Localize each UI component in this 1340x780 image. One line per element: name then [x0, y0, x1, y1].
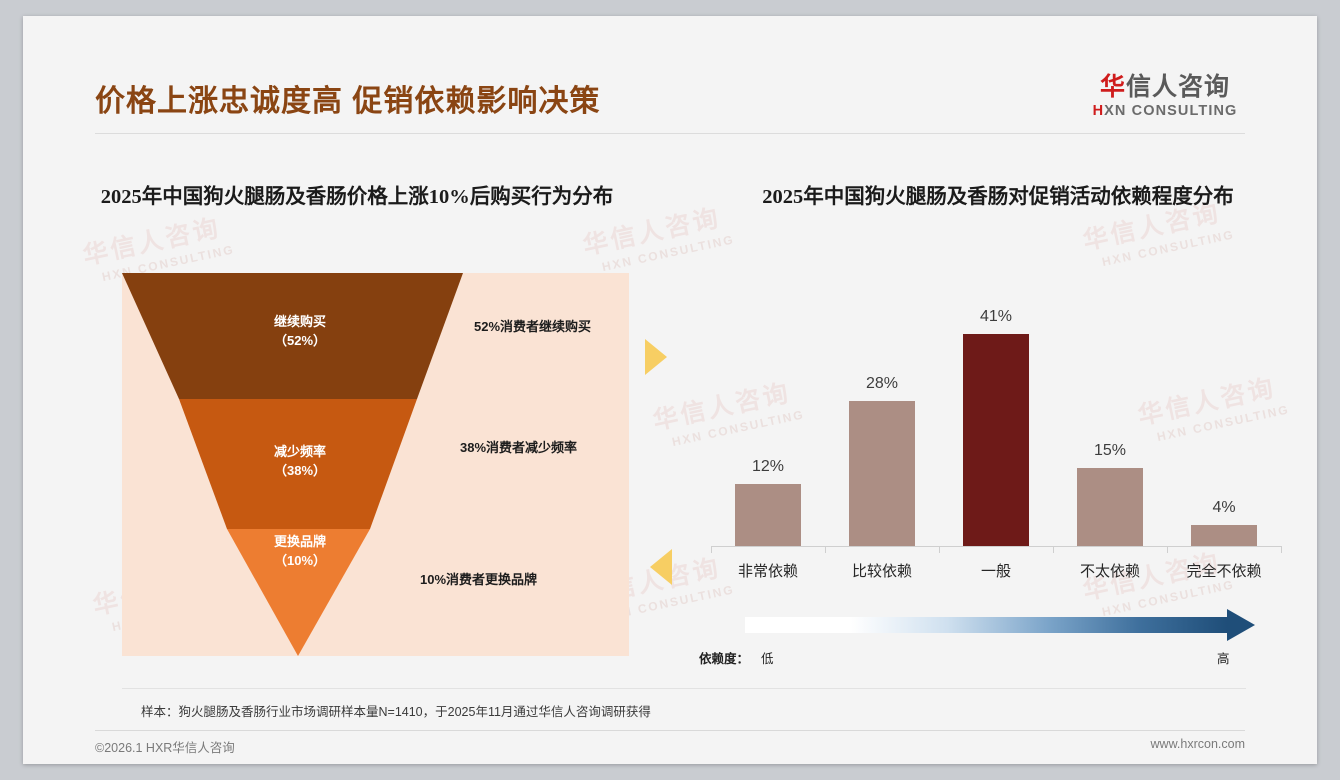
slide-page: 华信人咨询 HXN CONSULTING 华信人咨询 HXN CONSULTIN… — [23, 16, 1317, 764]
logo-english: HXN CONSULTING — [1085, 103, 1245, 119]
bar-column: 28% — [825, 296, 939, 546]
axis-category-label: 非常依赖 — [711, 560, 825, 581]
bar-value-label: 12% — [752, 458, 784, 476]
slide-canvas: 华信人咨询 HXN CONSULTING 华信人咨询 HXN CONSULTIN… — [0, 0, 1340, 780]
company-logo: 华信人咨询 HXN CONSULTING — [1085, 74, 1245, 119]
axis-tick — [1167, 546, 1168, 553]
gradient-arrow-head-icon — [1227, 609, 1255, 641]
logo-en-rest: XN CONSULTING — [1104, 103, 1237, 119]
axis-tick — [1281, 546, 1282, 553]
gradient-bar — [745, 617, 1227, 633]
axis-tick — [1053, 546, 1054, 553]
axis-tick — [711, 546, 712, 553]
copyright-text: ©2026.1 HXR华信人咨询 — [95, 737, 235, 756]
bar-chart: 12% 28% 41% 15% 4% — [711, 296, 1281, 546]
legend-caption: 依赖度： — [699, 648, 749, 667]
logo-chars-rest: 信人咨询 — [1126, 73, 1230, 101]
funnel-label-2: 减少频率 （38%） — [230, 443, 370, 481]
header-divider — [95, 133, 1245, 134]
legend-low-label: 低 — [761, 648, 774, 667]
funnel-chart: 继续购买 （52%） 减少频率 （38%） 更换品牌 （10%） 52%消费者继… — [122, 273, 629, 656]
bar-column: 15% — [1053, 296, 1167, 546]
bar-rect — [1191, 525, 1257, 546]
bar-chart-axis — [711, 546, 1281, 547]
bar-rect — [1077, 468, 1143, 546]
play-left-triangle-icon — [650, 549, 672, 585]
axis-tick — [825, 546, 826, 553]
logo-chinese: 华信人咨询 — [1085, 74, 1245, 100]
footer-divider — [95, 730, 1245, 731]
watermark: 华信人咨询 HXN CONSULTING — [1079, 541, 1235, 622]
website-url: www.hxrcon.com — [1151, 737, 1245, 751]
funnel-description-2: 38%消费者减少频率 — [460, 437, 577, 456]
bar-rect — [849, 401, 915, 546]
source-divider — [122, 688, 1246, 689]
legend-high-label: 高 — [1217, 648, 1230, 667]
logo-char-hua: 华 — [1100, 73, 1126, 101]
bar-column: 41% — [939, 296, 1053, 546]
bar-value-label: 4% — [1212, 499, 1235, 517]
bar-rect — [735, 484, 801, 546]
axis-category-label: 完全不依赖 — [1167, 560, 1281, 581]
axis-category-label: 比较依赖 — [825, 560, 939, 581]
dependency-gradient-legend — [745, 614, 1255, 636]
right-chart-title: 2025年中国狗火腿肠及香肠对促销活动依赖程度分布 — [683, 184, 1313, 212]
axis-tick — [939, 546, 940, 553]
page-title: 价格上涨忠诚度高 促销依赖影响决策 — [95, 76, 600, 120]
funnel-label-1: 继续购买 （52%） — [230, 313, 370, 351]
bar-value-label: 15% — [1094, 442, 1126, 460]
bar-value-label: 28% — [866, 375, 898, 393]
bar-rect-highlight — [963, 334, 1029, 546]
bar-column: 4% — [1167, 296, 1281, 546]
logo-en-h: H — [1093, 103, 1105, 119]
funnel-label-3: 更换品牌 （10%） — [230, 533, 370, 571]
source-note: 样本：狗火腿肠及香肠行业市场调研样本量N=1410，于2025年11月通过华信人… — [141, 701, 651, 720]
axis-category-label: 不太依赖 — [1053, 560, 1167, 581]
funnel-description-3: 10%消费者更换品牌 — [420, 569, 537, 588]
bar-column: 12% — [711, 296, 825, 546]
funnel-description-1: 52%消费者继续购买 — [474, 316, 591, 335]
axis-category-label: 一般 — [939, 560, 1053, 581]
play-right-triangle-icon — [645, 339, 667, 375]
bar-value-label: 41% — [980, 308, 1012, 326]
left-chart-title: 2025年中国狗火腿肠及香肠价格上涨10%后购买行为分布 — [47, 184, 667, 212]
